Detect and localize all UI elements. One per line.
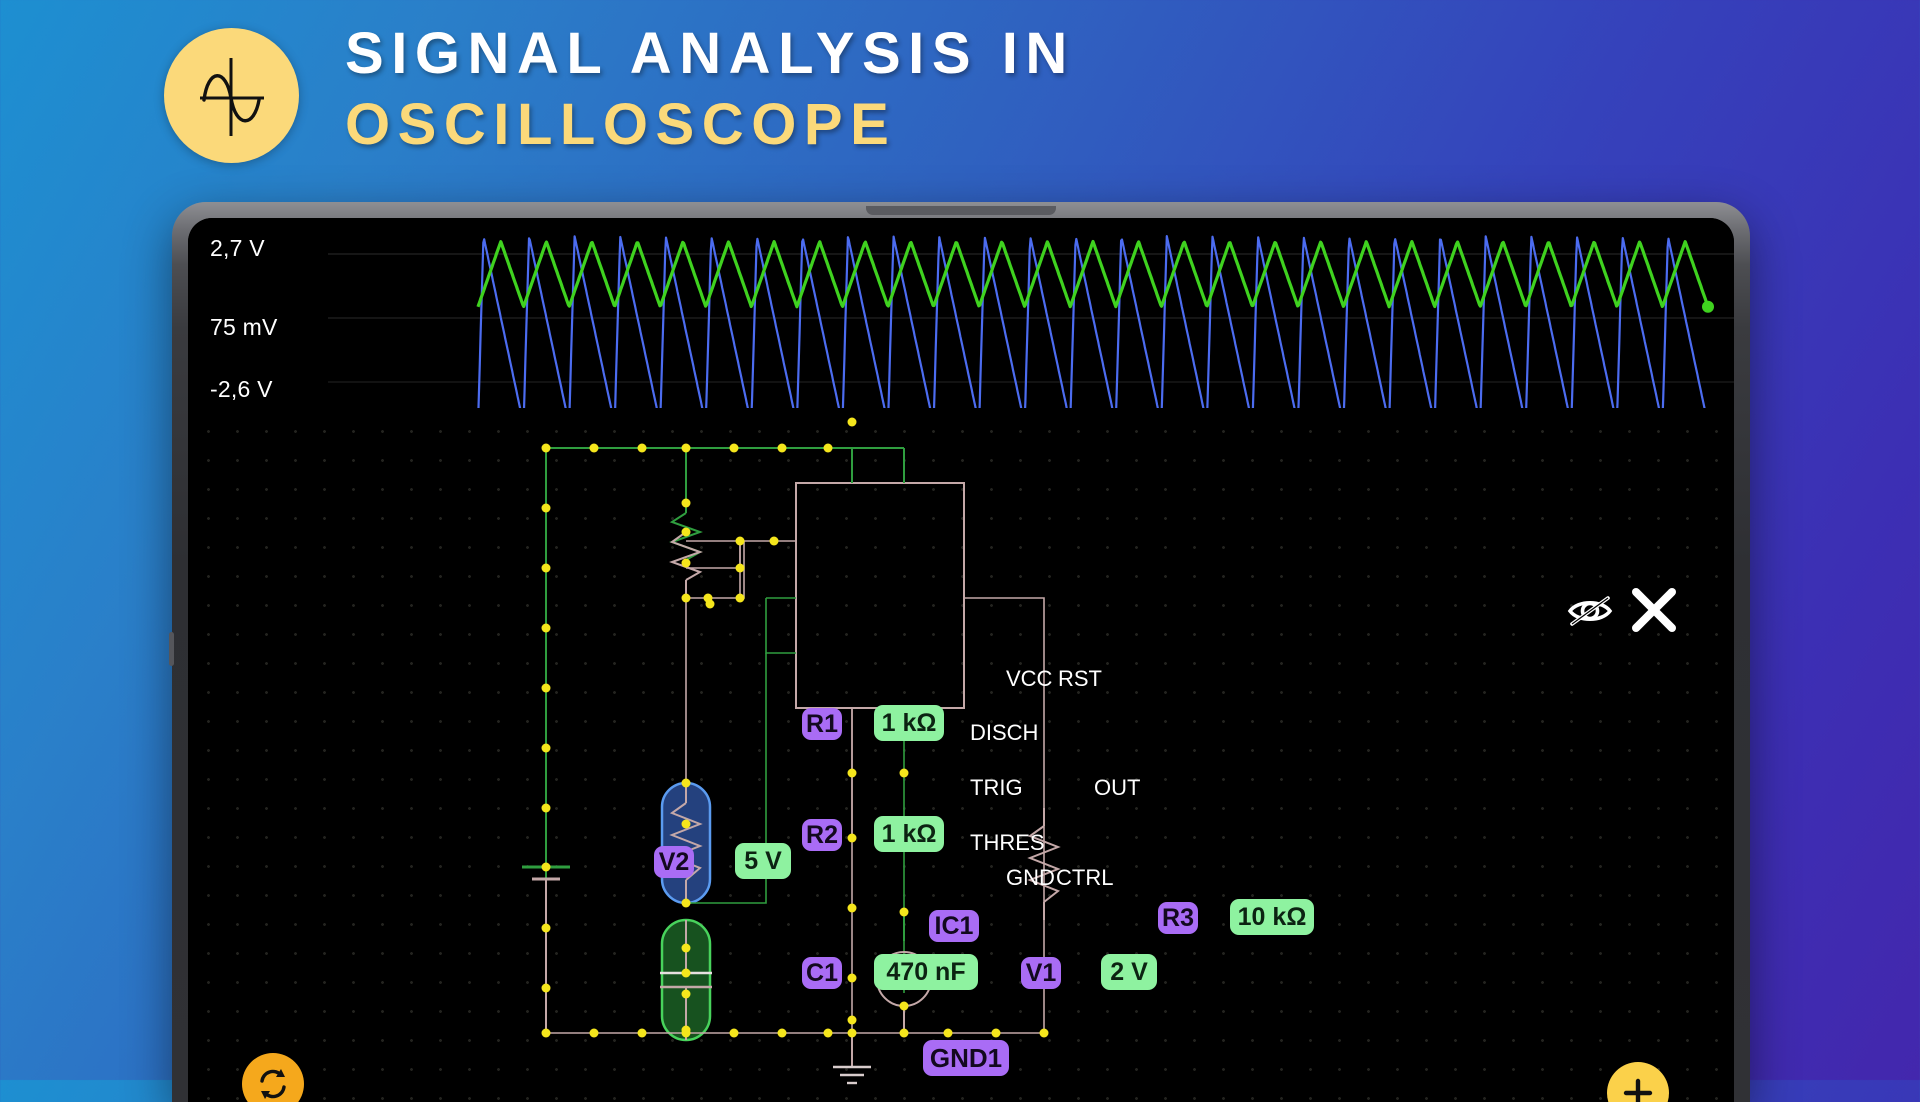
component-ref-v2[interactable]: V2	[654, 846, 694, 878]
app-logo	[164, 28, 299, 163]
sine-wave-in-circle-icon	[164, 28, 299, 163]
page-title: SIGNAL ANALYSIS IN OSCILLOSCOPE	[345, 24, 1075, 154]
ic1-body	[796, 483, 964, 708]
component-ref-gnd1[interactable]: GND1	[923, 1040, 1009, 1076]
component-value-r3[interactable]: 10 kΩ	[1230, 899, 1314, 935]
ic-pin-ctrl: CTRL	[1056, 865, 1113, 891]
circuit-canvas[interactable]: VCC RST DISCH TRIG THRES GND CTRL OUT R1…	[188, 408, 1734, 1102]
green-trace	[478, 242, 1714, 313]
circuit-schematic	[188, 408, 1734, 1102]
close-icon[interactable]	[1628, 584, 1680, 636]
tablet-device-frame: 2,7 V 75 mV -2,6 V	[172, 202, 1750, 1102]
ic-pin-trig: TRIG	[970, 775, 1023, 801]
gnd1-symbol	[833, 1033, 871, 1083]
ic-pin-thres: THRES	[970, 830, 1045, 856]
ic-pin-disch: DISCH	[970, 720, 1038, 746]
component-value-v1[interactable]: 2 V	[1101, 954, 1157, 990]
r3-symbol	[1030, 808, 1058, 920]
component-ref-v1[interactable]: V1	[1021, 957, 1061, 989]
component-value-v2[interactable]: 5 V	[735, 843, 791, 879]
ic-pin-out: OUT	[1094, 775, 1140, 801]
title-line-1: SIGNAL ANALYSIS IN	[345, 24, 1075, 83]
v2-symbol	[522, 808, 570, 1033]
ic-pin-vcc: VCC	[1006, 666, 1052, 692]
ic-pin-rst: RST	[1058, 666, 1102, 692]
ic-pin-gnd: GND	[1006, 865, 1055, 891]
refresh-icon	[256, 1067, 290, 1101]
tablet-notch	[866, 206, 1056, 215]
component-value-r1[interactable]: 1 kΩ	[874, 705, 944, 741]
waveform-plot[interactable]	[328, 218, 1734, 410]
oscilloscope-panel: 2,7 V 75 mV -2,6 V	[188, 218, 1734, 433]
r1-symbol	[672, 503, 700, 598]
tablet-side-button	[169, 632, 174, 666]
component-ref-r2[interactable]: R2	[802, 819, 842, 851]
eye-off-icon[interactable]	[1566, 586, 1614, 634]
component-ref-ic1[interactable]: IC1	[929, 910, 979, 942]
component-ref-c1[interactable]: C1	[802, 957, 842, 989]
page-header: SIGNAL ANALYSIS IN OSCILLOSCOPE	[0, 0, 1920, 185]
component-value-r2[interactable]: 1 kΩ	[874, 816, 944, 852]
tablet-screen: 2,7 V 75 mV -2,6 V	[188, 218, 1734, 1102]
voltage-label-top: 2,7 V	[210, 235, 265, 262]
title-line-2: OSCILLOSCOPE	[345, 95, 1075, 154]
component-ref-r3[interactable]: R3	[1158, 902, 1198, 934]
voltage-label-bottom: -2,6 V	[210, 376, 273, 403]
blue-trace	[478, 236, 1714, 410]
component-ref-r1[interactable]: R1	[802, 708, 842, 740]
voltage-label-mid: 75 mV	[210, 314, 278, 341]
component-value-c1[interactable]: 470 nF	[874, 954, 978, 990]
